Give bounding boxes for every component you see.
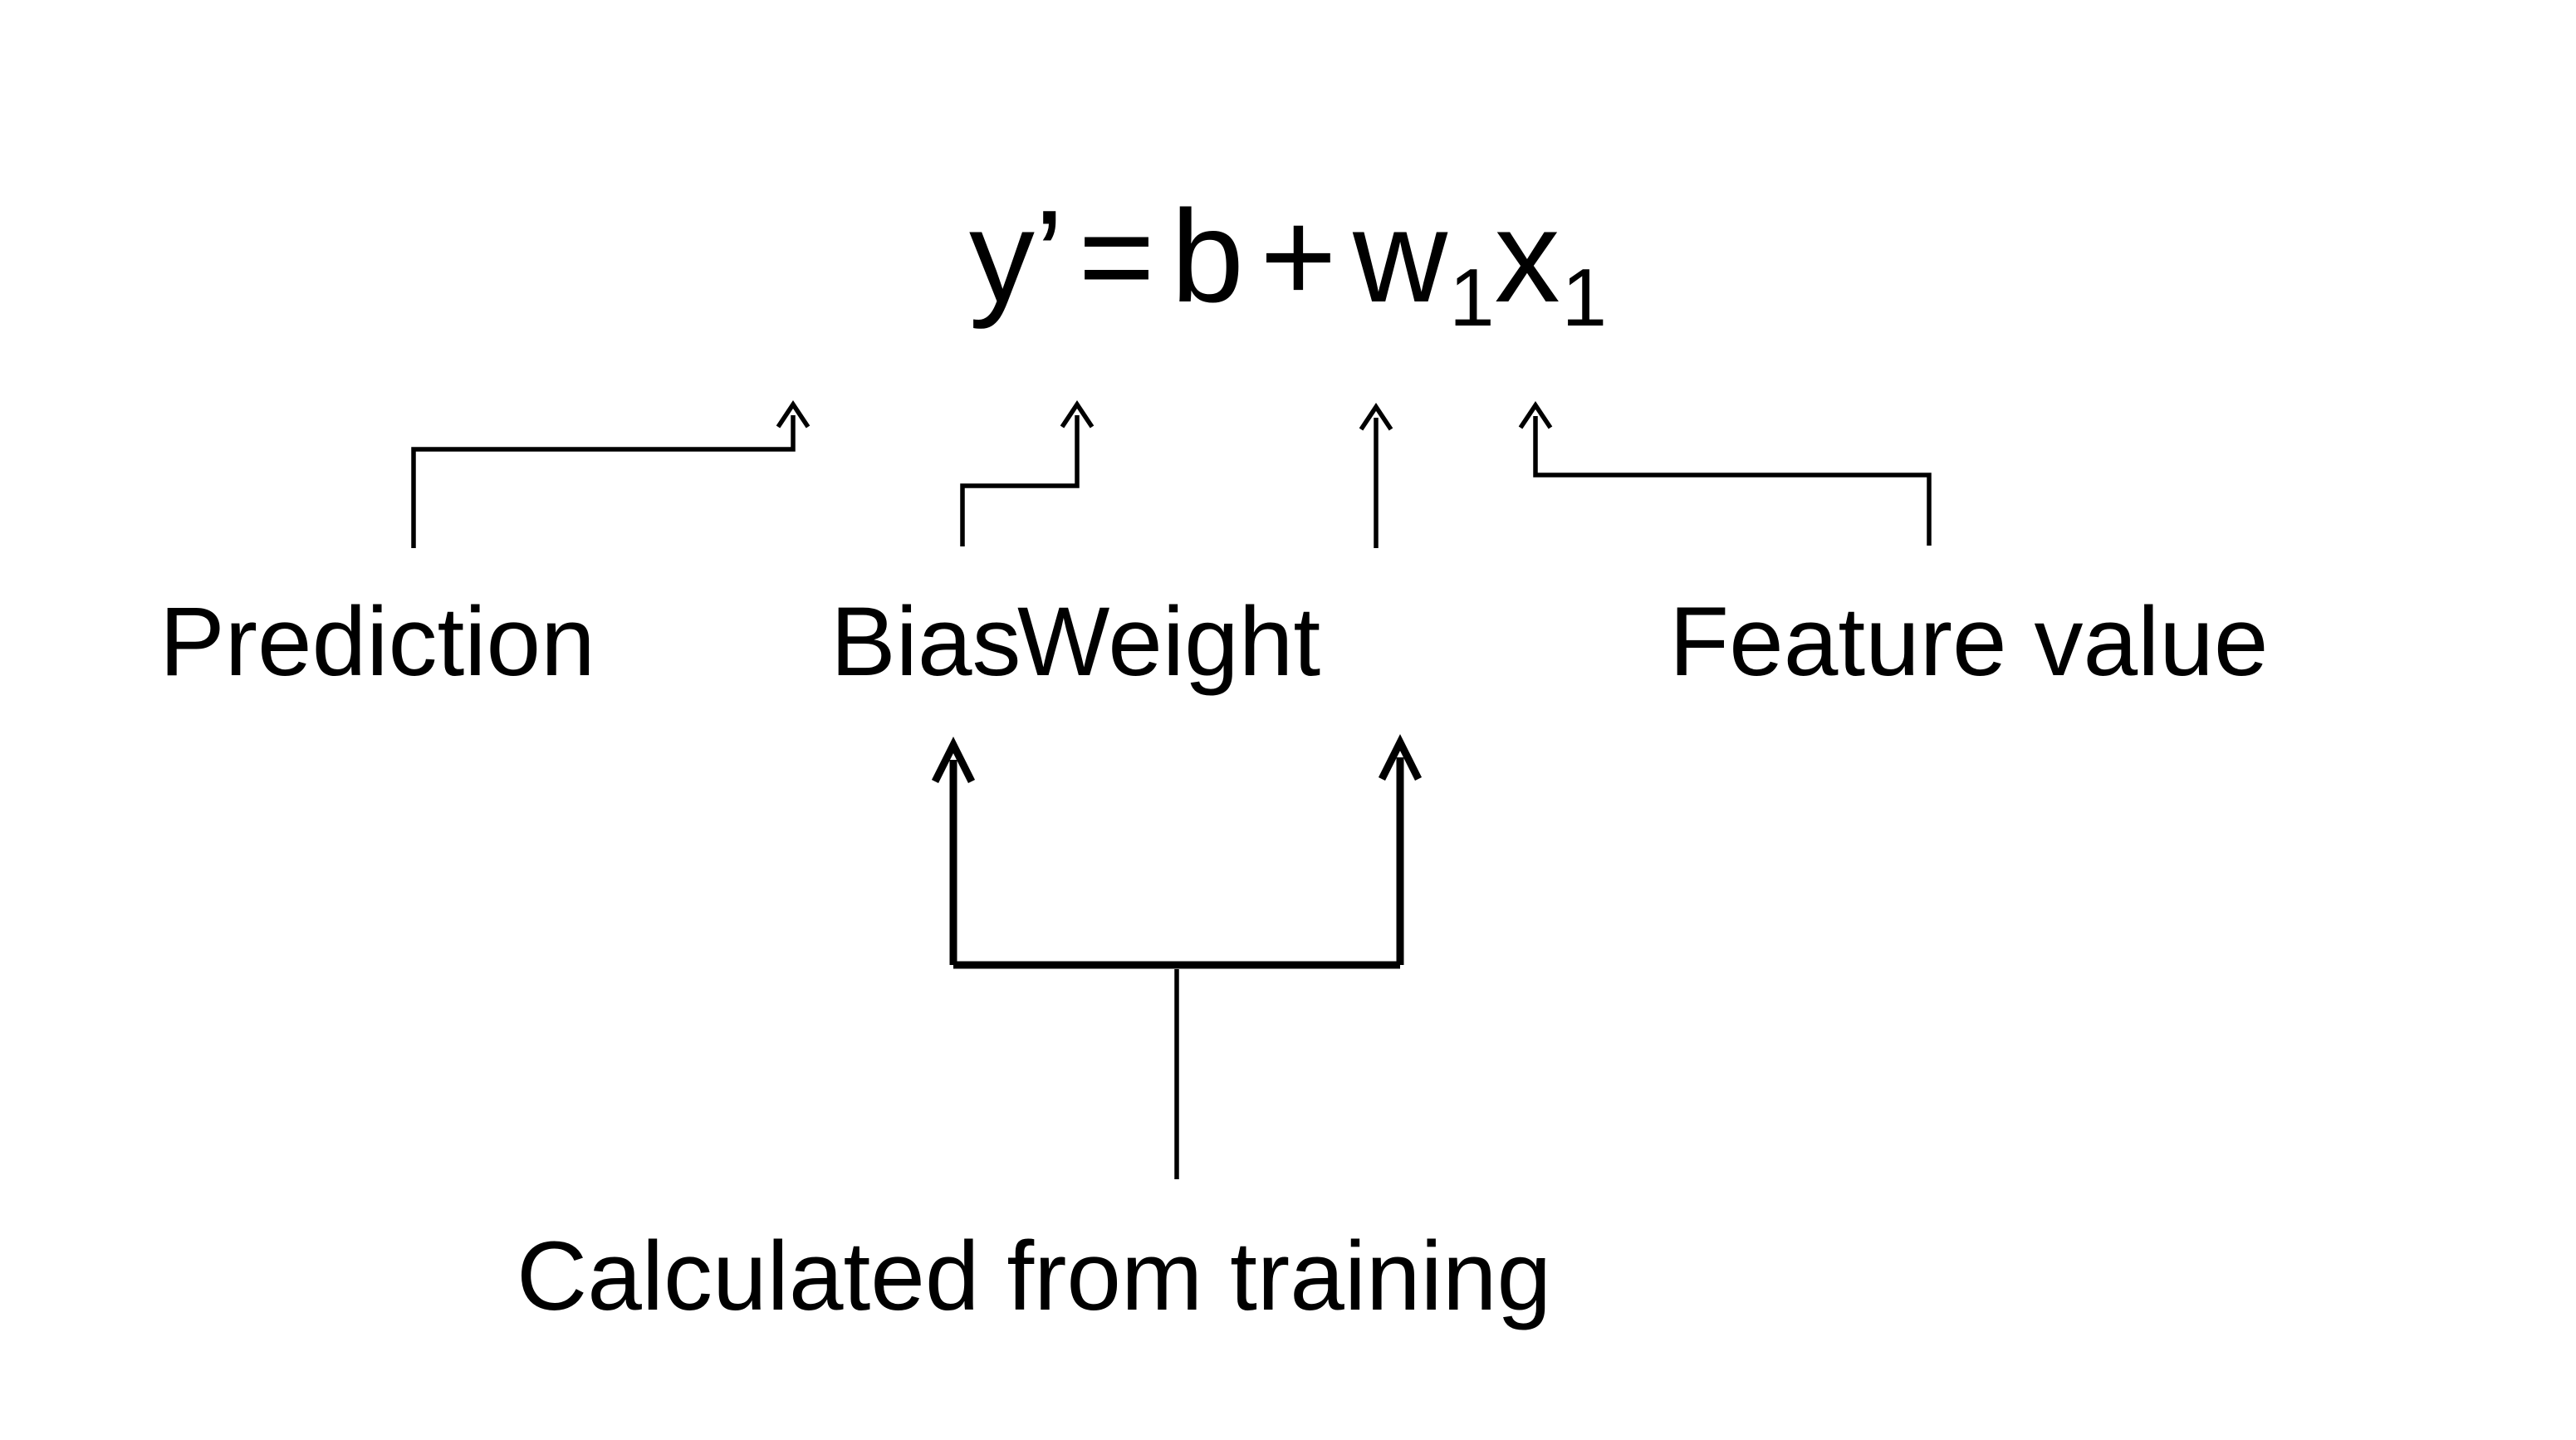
annotation-label-weight: Weight [1017,593,1320,691]
annotation-label-prediction: Prediction [159,593,595,691]
annotation-label-bias: Bias [830,593,1021,691]
equation-feature-subscript: 1 [1562,252,1607,343]
equation-feature-term: x [1495,184,1562,330]
prediction-connector [414,415,793,548]
equation-weight-subscript: 1 [1449,252,1494,343]
feature-value-connector [1535,416,1929,546]
equation: y’=b+w1x1 [0,191,2576,322]
equation-weight-term: w [1353,184,1449,330]
annotation-label-calculated-from-training: Calculated from training [517,1227,1551,1325]
calculated-from-training-bracket [953,757,1400,965]
bias-connector [962,415,1077,546]
diagram-canvas: y’=b+w1x1 Prediction Bias Weight Feature… [0,0,2576,1440]
equation-prediction-term: y’ [969,184,1064,330]
annotation-label-feature-value: Feature value [1669,593,2269,691]
equation-bias-term: b [1171,184,1246,330]
equation-plus-sign: + [1260,184,1338,330]
equation-equals-sign: = [1078,184,1156,330]
